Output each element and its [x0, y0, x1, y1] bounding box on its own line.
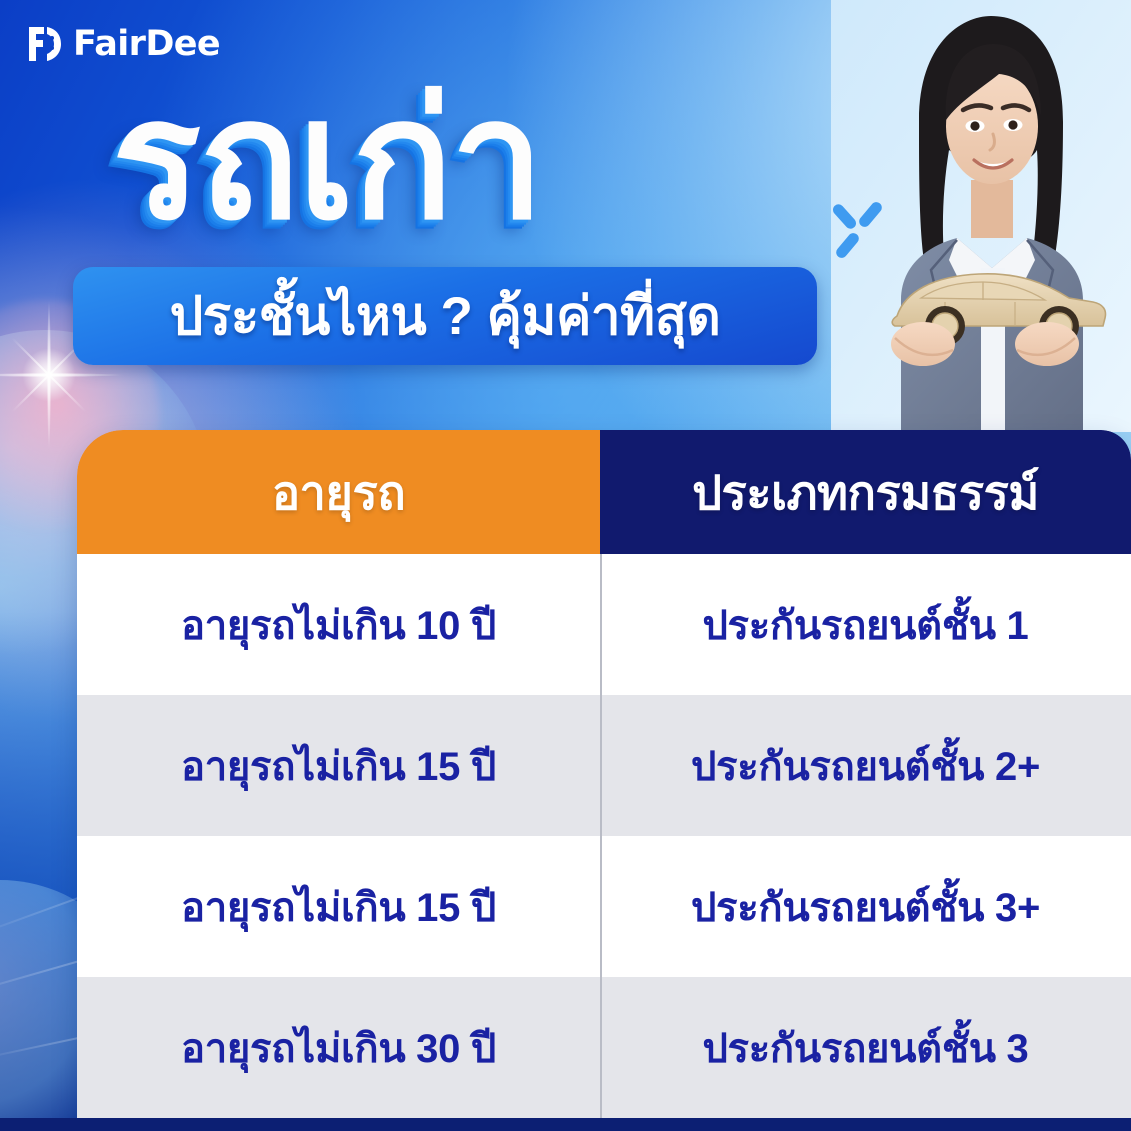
- column-divider: [600, 836, 602, 977]
- cell-age: อายุรถไม่เกิน 30 ปี: [77, 977, 600, 1118]
- cell-age: อายุรถไม่เกิน 15 ปี: [77, 836, 600, 977]
- table-header-age: อายุรถ: [77, 430, 600, 554]
- column-divider: [600, 554, 602, 695]
- promo-poster: FairDee รถเก่า ประชั้นไหน ? คุ้มค่าที่สุ…: [0, 0, 1131, 1131]
- column-divider: [600, 977, 602, 1118]
- cell-policy: ประกันรถยนต์ชั้น 1: [600, 554, 1131, 695]
- hero-subheading-pill: ประชั้นไหน ? คุ้มค่าที่สุด: [73, 267, 817, 365]
- cell-policy: ประกันรถยนต์ชั้น 2+: [600, 695, 1131, 836]
- fairdee-f-mark-icon: [26, 24, 64, 64]
- cell-age: อายุรถไม่เกิน 15 ปี: [77, 695, 600, 836]
- policy-comparison-table: อายุรถ ประเภทกรมธรรม์ อายุรถไม่เกิน 10 ป…: [77, 430, 1131, 1120]
- table-row: อายุรถไม่เกิน 10 ปี ประกันรถยนต์ชั้น 1: [77, 554, 1131, 695]
- poster-bottom-bar: [0, 1118, 1131, 1131]
- hero-subheading-text: ประชั้นไหน ? คุ้มค่าที่สุด: [170, 274, 721, 358]
- column-divider: [600, 695, 602, 836]
- sparkle-icon: [837, 198, 895, 264]
- hero-headline: รถเก่า: [112, 78, 752, 244]
- table-row: อายุรถไม่เกิน 30 ปี ประกันรถยนต์ชั้น 3: [77, 977, 1131, 1118]
- table-header-policy: ประเภทกรมธรรม์: [600, 430, 1131, 554]
- brand-logo[interactable]: FairDee: [26, 24, 220, 64]
- hero-person-image: [831, 0, 1131, 432]
- table-header-row: อายุรถ ประเภทกรมธรรม์: [77, 430, 1131, 554]
- cell-age: อายุรถไม่เกิน 10 ปี: [77, 554, 600, 695]
- brand-logo-text: FairDee: [73, 27, 220, 62]
- table-row: อายุรถไม่เกิน 15 ปี ประกันรถยนต์ชั้น 3+: [77, 836, 1131, 977]
- table-row: อายุรถไม่เกิน 15 ปี ประกันรถยนต์ชั้น 2+: [77, 695, 1131, 836]
- cell-policy: ประกันรถยนต์ชั้น 3: [600, 977, 1131, 1118]
- cell-policy: ประกันรถยนต์ชั้น 3+: [600, 836, 1131, 977]
